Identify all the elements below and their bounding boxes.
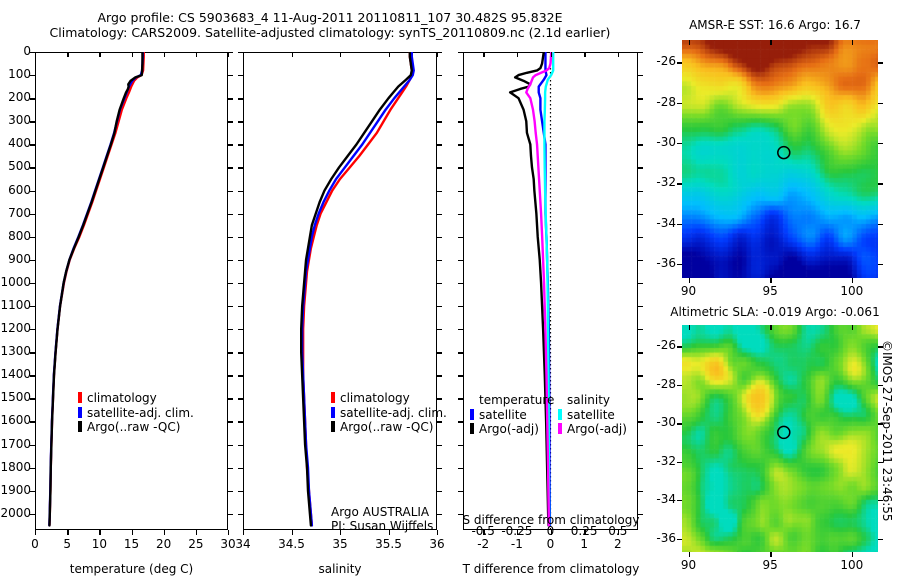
tick-mark [638,98,643,99]
tick-mark [437,530,438,535]
legend-label: Argo(..raw -QC) [340,420,433,434]
tick-mark [228,445,233,446]
tick-mark [228,491,233,492]
x-tick-label: 10 [85,537,113,551]
tick-mark [99,530,100,535]
map-y-tick-label: -30 [642,135,676,149]
tick-mark [228,52,233,53]
tick-mark [228,214,233,215]
legend-item: climatology [78,390,194,405]
legend-swatch-satellite [78,407,82,418]
tick-mark [437,98,442,99]
tick-mark [228,52,229,57]
salinity-legend: climatology satellite-adj. clim. Argo(..… [331,390,447,434]
tick-mark [437,445,442,446]
difference-legend-temperature: temperature satellite Argo(-adj) [470,392,554,436]
y-tick-label: 200 [0,90,31,104]
map-x-tick-label: 95 [752,284,788,298]
y-tick-label: 1900 [0,483,31,497]
tick-mark [228,237,233,238]
legend-item: Argo(..raw -QC) [331,419,447,434]
tick-mark [638,421,643,422]
tick-mark [292,530,293,535]
tick-mark [618,530,619,535]
tick-mark [638,283,643,284]
tick-mark [437,514,442,515]
y-tick-label: 100 [0,67,31,81]
legend-label: satellite-adj. clim. [87,406,194,420]
y-tick-label: 1400 [0,367,31,381]
tick-mark [878,264,883,265]
tick-mark [878,183,883,184]
y-tick-label: 1100 [0,298,31,312]
legend-label: satellite-adj. clim. [340,406,447,420]
legend-swatch-s-satellite [558,409,562,420]
tick-mark [67,530,68,535]
tick-mark [638,237,643,238]
legend-item: satellite [470,407,554,422]
tick-mark [689,278,690,283]
tick-mark [878,62,883,63]
legend-label: climatology [340,391,410,405]
x-tick-label: 36 [419,537,455,551]
legend-item: satellite [558,407,627,422]
legend-item: Argo(..raw -QC) [78,419,194,434]
title-line-2: Climatology: CARS2009. Satellite-adjuste… [0,25,660,40]
tick-mark [228,468,233,469]
map-x-tick-label: 100 [834,284,870,298]
tick-mark [437,468,442,469]
y-tick-label: 800 [0,229,31,243]
tick-mark [437,375,442,376]
title-line-1: Argo profile: CS 5903683_4 11-Aug-2011 2… [0,10,660,25]
legend-header-label: temperature [479,393,554,407]
sla-map-marker-layer [682,325,878,552]
tick-mark [638,214,643,215]
legend-label: Argo(..raw -QC) [87,420,180,434]
map-y-tick-label: -26 [642,54,676,68]
tick-mark [228,329,233,330]
tick-mark [638,445,643,446]
y-tick-label: 700 [0,206,31,220]
tick-mark [228,260,233,261]
tick-mark [483,530,484,535]
tick-mark [638,144,643,145]
legend-swatch-satellite [331,407,335,418]
program-annotation: Argo AUSTRALIA [331,505,429,519]
legend-item: satellite-adj. clim. [78,405,194,420]
tick-mark [228,167,233,168]
tick-mark [132,530,133,535]
y-tick-label: 900 [0,252,31,266]
legend-swatch-t-satellite [470,409,474,420]
x-tick-label: 35.5 [371,537,407,551]
tick-mark [551,530,552,535]
temperature-legend: climatology satellite-adj. clim. Argo(..… [78,390,194,434]
map-y-tick-label: -28 [642,377,676,391]
tick-mark [770,552,771,557]
tick-mark [437,167,442,168]
temperature-axis-label: temperature (deg C) [35,562,228,576]
sla-map-title: Altimetric SLA: -0.019 Argo: -0.061 [660,305,890,319]
legend-header: temperature [470,392,554,407]
t-tick-label: -1 [503,537,531,551]
map-x-tick-label: 90 [671,284,707,298]
y-tick-label: 0 [0,44,31,58]
tick-mark [638,75,643,76]
map-x-tick-label: 100 [834,558,870,572]
y-tick-label: 1000 [0,275,31,289]
legend-item: Argo(-adj) [558,421,627,436]
tick-mark [638,398,643,399]
tick-mark [437,214,442,215]
tick-mark [878,539,883,540]
tick-mark [228,306,233,307]
t-tick-label: 2 [604,537,632,551]
map-y-tick-label: -32 [642,454,676,468]
y-tick-label: 2000 [0,506,31,520]
tick-mark [878,224,883,225]
sst-map-title: AMSR-E SST: 16.6 Argo: 16.7 [670,18,880,32]
y-tick-label: 400 [0,136,31,150]
legend-item: satellite-adj. clim. [331,405,447,420]
tick-mark [437,237,442,238]
legend-label: satellite [479,408,527,422]
tick-mark [437,75,442,76]
y-tick-label: 1500 [0,390,31,404]
map-x-tick-label: 95 [752,558,788,572]
legend-label: Argo(-adj) [479,422,539,436]
tick-mark [228,530,229,535]
tick-mark [437,260,442,261]
salinity-profile-plot [243,52,437,530]
tick-mark [770,278,771,283]
legend-item: Argo(-adj) [470,421,554,436]
tick-mark [437,306,442,307]
difference-profile-plot [463,52,638,530]
map-x-tick-label: 90 [671,558,707,572]
tick-mark [638,352,643,353]
x-tick-label: 34.5 [274,537,310,551]
temperature-profile-plot [35,52,228,530]
legend-label: climatology [87,391,157,405]
x-tick-label: 20 [150,537,178,551]
tick-mark [228,352,233,353]
t-tick-label: 1 [570,537,598,551]
y-tick-label: 600 [0,183,31,197]
tick-mark [437,121,442,122]
s-difference-axis-label: S difference from climatology [460,513,642,527]
tick-mark [437,144,442,145]
legend-item: climatology [331,390,447,405]
map-y-tick-label: -36 [642,531,676,545]
tick-mark [228,144,233,145]
page-title: Argo profile: CS 5903683_4 11-Aug-2011 2… [0,10,660,40]
tick-mark [437,52,438,57]
tick-mark [228,98,233,99]
tick-mark [437,52,442,53]
y-tick-label: 1300 [0,344,31,358]
map-y-tick-label: -34 [642,492,676,506]
tick-mark [437,491,442,492]
map-y-tick-label: -30 [642,415,676,429]
legend-swatch-argo [78,421,82,432]
y-tick-label: 1800 [0,460,31,474]
tick-mark [638,167,643,168]
legend-swatch-climatology [331,392,335,403]
x-tick-label: 0 [21,537,49,551]
tick-mark [689,552,690,557]
tick-mark [228,121,233,122]
tick-mark [437,352,442,353]
x-tick-label: 30 [214,537,242,551]
x-tick-label: 5 [53,537,81,551]
map-y-tick-label: -36 [642,256,676,270]
tick-mark [243,530,244,535]
x-tick-label: 25 [182,537,210,551]
tick-mark [228,421,233,422]
tick-mark [228,375,233,376]
tick-mark [35,530,36,535]
t-tick-label: 0 [537,537,565,551]
y-tick-label: 500 [0,159,31,173]
legend-swatch-argo [331,421,335,432]
t-tick-label: -2 [469,537,497,551]
legend-header-label: salinity [567,393,610,407]
map-y-tick-label: -32 [642,175,676,189]
legend-header: salinity [558,392,627,407]
tick-mark [852,278,853,283]
tick-mark [437,191,442,192]
tick-mark [437,283,442,284]
tick-mark [638,306,643,307]
tick-mark [164,530,165,535]
pi-annotation: PI: Susan Wijffels [331,519,433,533]
y-tick-label: 1200 [0,321,31,335]
tick-mark [228,75,233,76]
difference-legend-salinity: salinity satellite Argo(-adj) [558,392,627,436]
legend-swatch-s-argo [558,423,562,434]
tick-mark [638,329,643,330]
tick-mark [638,468,643,469]
sst-map-marker-layer [682,40,878,278]
y-tick-label: 300 [0,113,31,127]
tick-mark [437,329,442,330]
salinity-axis-label: salinity [243,562,437,576]
tick-mark [638,191,643,192]
legend-label: satellite [567,408,615,422]
y-tick-label: 1700 [0,437,31,451]
tick-mark [638,52,643,53]
tick-mark [228,398,233,399]
legend-label: Argo(-adj) [567,422,627,436]
t-difference-axis-label: T difference from climatology [460,562,642,576]
tick-mark [517,530,518,535]
map-y-tick-label: -26 [642,338,676,352]
tick-mark [852,552,853,557]
legend-swatch-t-argo [470,423,474,434]
tick-mark [584,530,585,535]
x-tick-label: 35 [322,537,358,551]
map-y-tick-label: -34 [642,216,676,230]
tick-mark [638,375,643,376]
x-tick-label: 15 [118,537,146,551]
tick-mark [228,283,233,284]
tick-mark [228,191,233,192]
tick-mark [878,143,883,144]
tick-mark [638,491,643,492]
tick-mark [228,514,233,515]
tick-mark [638,260,643,261]
map-y-tick-label: -28 [642,95,676,109]
tick-mark [638,121,643,122]
tick-mark [196,530,197,535]
imos-credit: ©IMOS 27-Sep-2011 23:46:55 [880,340,894,522]
legend-swatch-climatology [78,392,82,403]
x-tick-label: 34 [225,537,261,551]
tick-mark [878,103,883,104]
y-tick-label: 1600 [0,413,31,427]
